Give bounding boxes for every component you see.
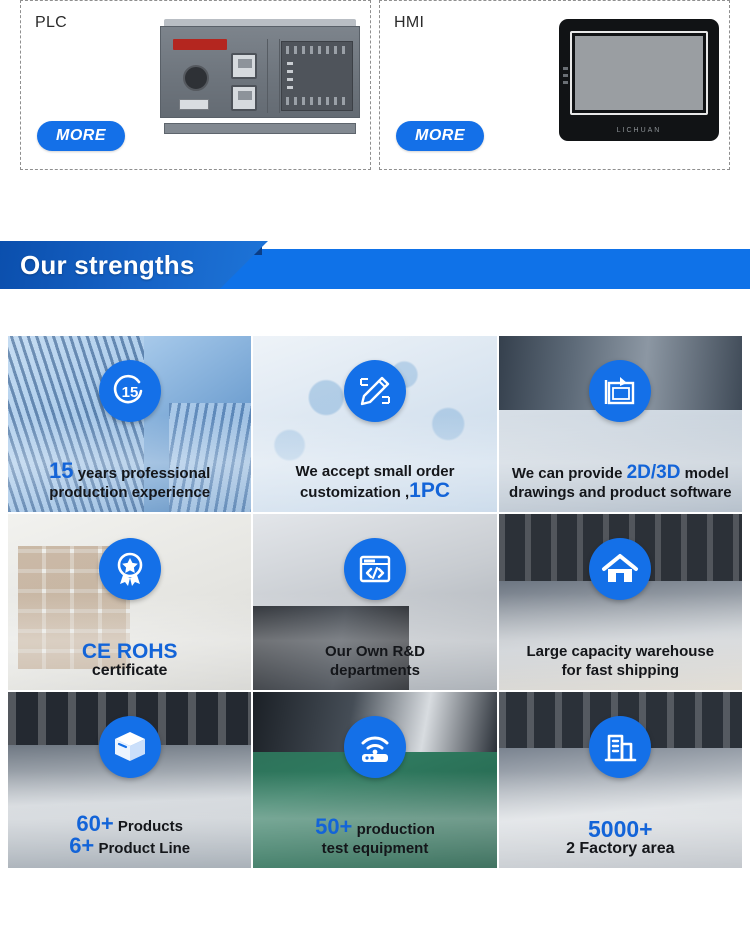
building-factory-icon — [589, 716, 651, 778]
strength-line2-rest: customization , — [300, 484, 409, 501]
strength-line2: certificate — [12, 661, 247, 680]
product-cards-row: PLC — [0, 0, 750, 176]
strength-cell-test-equipment[interactable]: 50+ production test equipment — [253, 692, 496, 868]
strength-caption: Our Own R&D departments — [257, 642, 492, 680]
product-card-plc[interactable]: PLC — [20, 0, 371, 170]
svg-text:15: 15 — [121, 384, 138, 401]
blueprint-drawing-icon — [589, 360, 651, 422]
strength-line2: test equipment — [257, 839, 492, 858]
strength-line2: drawings and product software — [503, 483, 738, 502]
strength-line1: 5000+ — [503, 820, 738, 839]
strength-line1: Large capacity warehouse — [503, 642, 738, 661]
home-warehouse-icon — [589, 538, 651, 600]
strength-cell-small-order[interactable]: We accept small order customization ,1PC — [253, 336, 496, 512]
strength-line1: We accept small order — [257, 462, 492, 481]
strength-caption: 50+ production test equipment — [257, 817, 492, 858]
strength-caption: 15 years professional production experie… — [12, 461, 247, 502]
award-medal-icon — [99, 538, 161, 600]
strength-line2: production experience — [12, 483, 247, 502]
strength-cell-factory-area[interactable]: 5000+ 2 Factory area — [499, 692, 742, 868]
strength-caption: We accept small order customization ,1PC — [257, 462, 492, 502]
strength-caption: We can provide 2D/3D model drawings and … — [503, 463, 738, 502]
product-card-title: HMI — [394, 14, 424, 32]
strength-line1-rest: Products — [114, 818, 183, 835]
strength-highlight: 15 — [49, 458, 73, 483]
strength-line2-rest: Product Line — [94, 840, 190, 857]
clock-15-icon: 15 — [99, 360, 161, 422]
code-window-icon — [344, 538, 406, 600]
strength-line2: for fast shipping — [503, 661, 738, 680]
strength-line1-post: model — [680, 465, 728, 482]
strengths-grid: 15 15 years professional production expe… — [8, 336, 742, 868]
strength-line2: 2 Factory area — [503, 839, 738, 858]
strength-highlight: 2D/3D — [627, 462, 681, 483]
hmi-touch-panel-photo: LICHUAN — [559, 19, 719, 141]
plc-device-photo — [160, 19, 360, 134]
strength-cell-years-experience[interactable]: 15 15 years professional production expe… — [8, 336, 251, 512]
strength-caption: 5000+ 2 Factory area — [503, 820, 738, 858]
strength-cell-2d-3d-drawings[interactable]: We can provide 2D/3D model drawings and … — [499, 336, 742, 512]
product-card-title: PLC — [35, 14, 67, 32]
strength-highlight-2: 6+ — [69, 833, 94, 858]
strength-caption: 60+ Products 6+ Product Line — [12, 814, 247, 858]
section-title: Our strengths — [0, 250, 195, 281]
section-banner: Our strengths — [0, 241, 750, 289]
strength-caption: Large capacity warehouse for fast shippi… — [503, 642, 738, 680]
strength-cell-ce-rohs[interactable]: CE ROHS certificate — [8, 514, 251, 690]
strength-highlight: 1PC — [409, 479, 450, 502]
strength-cell-products-lines[interactable]: 60+ Products 6+ Product Line — [8, 692, 251, 868]
strength-caption: CE ROHS certificate — [12, 642, 247, 680]
strength-line1-pre: We can provide — [512, 465, 627, 482]
strength-line1: CE ROHS — [12, 642, 247, 661]
strength-cell-warehouse[interactable]: Large capacity warehouse for fast shippi… — [499, 514, 742, 690]
hmi-brand-label: LICHUAN — [559, 127, 719, 134]
more-button-hmi[interactable]: MORE — [396, 121, 484, 151]
product-card-hmi[interactable]: HMI LICHUAN MORE — [379, 0, 730, 170]
strength-line1: Our Own R&D — [257, 642, 492, 661]
pencil-edit-icon — [344, 360, 406, 422]
strength-line1-rest: years professional — [74, 465, 211, 482]
strength-line1-rest: production — [352, 821, 435, 838]
strength-line2: departments — [257, 661, 492, 680]
package-box-icon — [99, 716, 161, 778]
more-button-plc[interactable]: MORE — [37, 121, 125, 151]
router-wifi-icon — [344, 716, 406, 778]
strength-highlight: 50+ — [315, 814, 352, 839]
strength-cell-rd-department[interactable]: Our Own R&D departments — [253, 514, 496, 690]
